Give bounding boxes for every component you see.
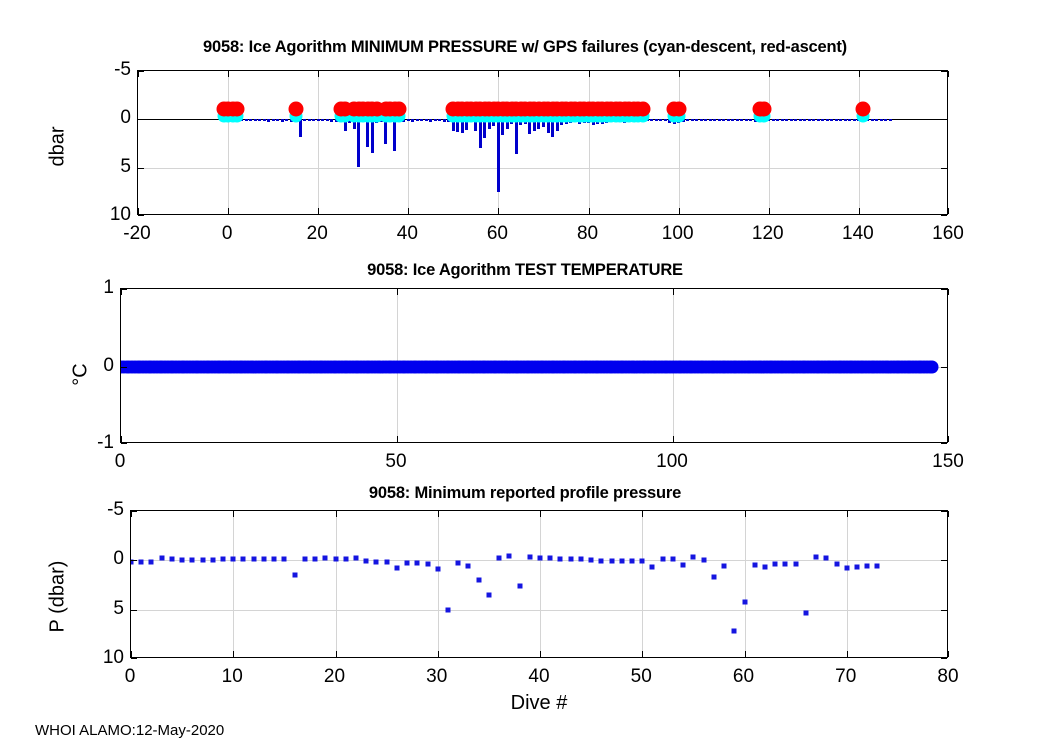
- x-tick-label: 50: [631, 666, 652, 688]
- x-tick: [131, 651, 132, 657]
- x-tick: [948, 436, 949, 442]
- y-tick-label: 10: [84, 647, 124, 669]
- x-tick-top: [948, 289, 949, 295]
- x-tick-top: [408, 71, 409, 77]
- panel-test-temperature: 9058: Ice Agorithm TEST TEMPERATURE 0501…: [0, 255, 1050, 485]
- x-tick: [679, 208, 680, 214]
- y-tick-label: 5: [91, 156, 131, 178]
- x-tick-label: 80: [937, 666, 958, 688]
- y-tick-right: [941, 610, 947, 611]
- y-tick: [138, 71, 144, 72]
- y-tick-label: 1: [74, 277, 114, 299]
- y-tick-right: [941, 71, 947, 72]
- y-tick-label: -5: [91, 59, 131, 81]
- x-tick: [948, 208, 949, 214]
- y-tick: [131, 511, 137, 512]
- y-tick-right: [941, 168, 947, 169]
- x-tick-top: [859, 71, 860, 77]
- x-tick-top: [336, 511, 337, 517]
- x-tick: [498, 208, 499, 214]
- x-tick-label: -20: [123, 223, 150, 245]
- x-tick-label: 40: [397, 223, 418, 245]
- x-tick: [769, 208, 770, 214]
- plot-area-mid: [120, 288, 948, 443]
- x-tick-label: 60: [733, 666, 754, 688]
- y-tick-right: [941, 367, 947, 368]
- y-axis-label-bot: P (dbar): [46, 561, 69, 633]
- y-tick-right: [941, 119, 947, 120]
- y-tick: [131, 560, 137, 561]
- y-axis-label-top: dbar: [47, 126, 70, 166]
- x-tick: [859, 208, 860, 214]
- x-tick-top: [228, 71, 229, 77]
- x-tick-label: 100: [656, 451, 688, 473]
- x-tick-top: [498, 71, 499, 77]
- x-tick-label: 40: [528, 666, 549, 688]
- x-tick-top: [673, 289, 674, 295]
- x-tick-label: 10: [222, 666, 243, 688]
- x-tick-top: [438, 511, 439, 517]
- x-tick: [408, 208, 409, 214]
- x-tick-top: [233, 511, 234, 517]
- axis-ticks-bot: [131, 511, 947, 657]
- x-tick: [540, 651, 541, 657]
- x-tick: [745, 651, 746, 657]
- y-tick-label: 5: [84, 598, 124, 620]
- x-axis-label-bot: Dive #: [511, 692, 568, 715]
- x-tick: [228, 208, 229, 214]
- y-tick: [138, 215, 144, 216]
- x-tick-label: 0: [125, 666, 136, 688]
- x-tick-top: [769, 71, 770, 77]
- y-tick: [131, 610, 137, 611]
- y-tick: [121, 289, 127, 290]
- x-tick-top: [397, 289, 398, 295]
- y-tick: [138, 119, 144, 120]
- y-tick-right: [941, 511, 947, 512]
- x-tick-top: [642, 511, 643, 517]
- x-tick: [948, 651, 949, 657]
- x-tick-top: [540, 511, 541, 517]
- y-tick-label: 0: [84, 548, 124, 570]
- y-tick-right: [941, 560, 947, 561]
- x-tick: [438, 651, 439, 657]
- y-axis-label-mid: °C: [70, 363, 93, 385]
- x-tick-top: [589, 71, 590, 77]
- x-tick-label: 100: [662, 223, 694, 245]
- x-tick: [121, 436, 122, 442]
- x-tick: [336, 651, 337, 657]
- plot-area-top: [137, 70, 948, 215]
- x-tick-label: 160: [932, 223, 964, 245]
- y-tick: [138, 168, 144, 169]
- x-tick-label: 0: [115, 451, 126, 473]
- x-tick-label: 70: [835, 666, 856, 688]
- x-tick-top: [948, 71, 949, 77]
- x-tick: [847, 651, 848, 657]
- x-tick-top: [847, 511, 848, 517]
- y-tick-right: [941, 658, 947, 659]
- x-tick-top: [318, 71, 319, 77]
- x-tick-label: 120: [752, 223, 784, 245]
- x-tick: [673, 436, 674, 442]
- y-tick-label: -5: [84, 499, 124, 521]
- y-tick: [121, 367, 127, 368]
- axis-ticks-mid: [121, 289, 947, 442]
- x-tick-top: [679, 71, 680, 77]
- x-tick-top: [948, 511, 949, 517]
- x-tick-label: 20: [324, 666, 345, 688]
- x-tick: [318, 208, 319, 214]
- x-tick-label: 20: [307, 223, 328, 245]
- plot-area-bot: [130, 510, 948, 658]
- y-tick-label: -1: [74, 432, 114, 454]
- y-tick: [121, 443, 127, 444]
- figure-footer: WHOI ALAMO:12-May-2020: [35, 722, 224, 739]
- y-tick-label: 10: [91, 204, 131, 226]
- y-tick-right: [941, 289, 947, 290]
- x-tick-label: 0: [222, 223, 233, 245]
- y-tick: [131, 658, 137, 659]
- x-tick: [642, 651, 643, 657]
- x-tick-label: 80: [577, 223, 598, 245]
- x-tick-label: 50: [385, 451, 406, 473]
- panel-bot-title: 9058: Minimum reported profile pressure: [0, 484, 1050, 503]
- y-tick-right: [941, 215, 947, 216]
- x-tick: [233, 651, 234, 657]
- panel-minimum-pressure: 9058: Ice Agorithm MINIMUM PRESSURE w/ G…: [0, 30, 1050, 280]
- x-tick: [589, 208, 590, 214]
- x-tick-label: 150: [932, 451, 964, 473]
- x-tick: [138, 208, 139, 214]
- x-tick-label: 140: [842, 223, 874, 245]
- panel-min-reported-pressure: 9058: Minimum reported profile pressure …: [0, 480, 1050, 720]
- y-tick-right: [941, 443, 947, 444]
- matlab-figure: 9058: Ice Agorithm MINIMUM PRESSURE w/ G…: [0, 0, 1050, 750]
- panel-mid-title: 9058: Ice Agorithm TEST TEMPERATURE: [0, 261, 1050, 280]
- y-tick-label: 0: [91, 107, 131, 129]
- panel-top-title: 9058: Ice Agorithm MINIMUM PRESSURE w/ G…: [0, 38, 1050, 57]
- x-tick-label: 60: [487, 223, 508, 245]
- x-tick-label: 30: [426, 666, 447, 688]
- axis-ticks-top: [138, 71, 947, 214]
- x-tick: [397, 436, 398, 442]
- x-tick-top: [745, 511, 746, 517]
